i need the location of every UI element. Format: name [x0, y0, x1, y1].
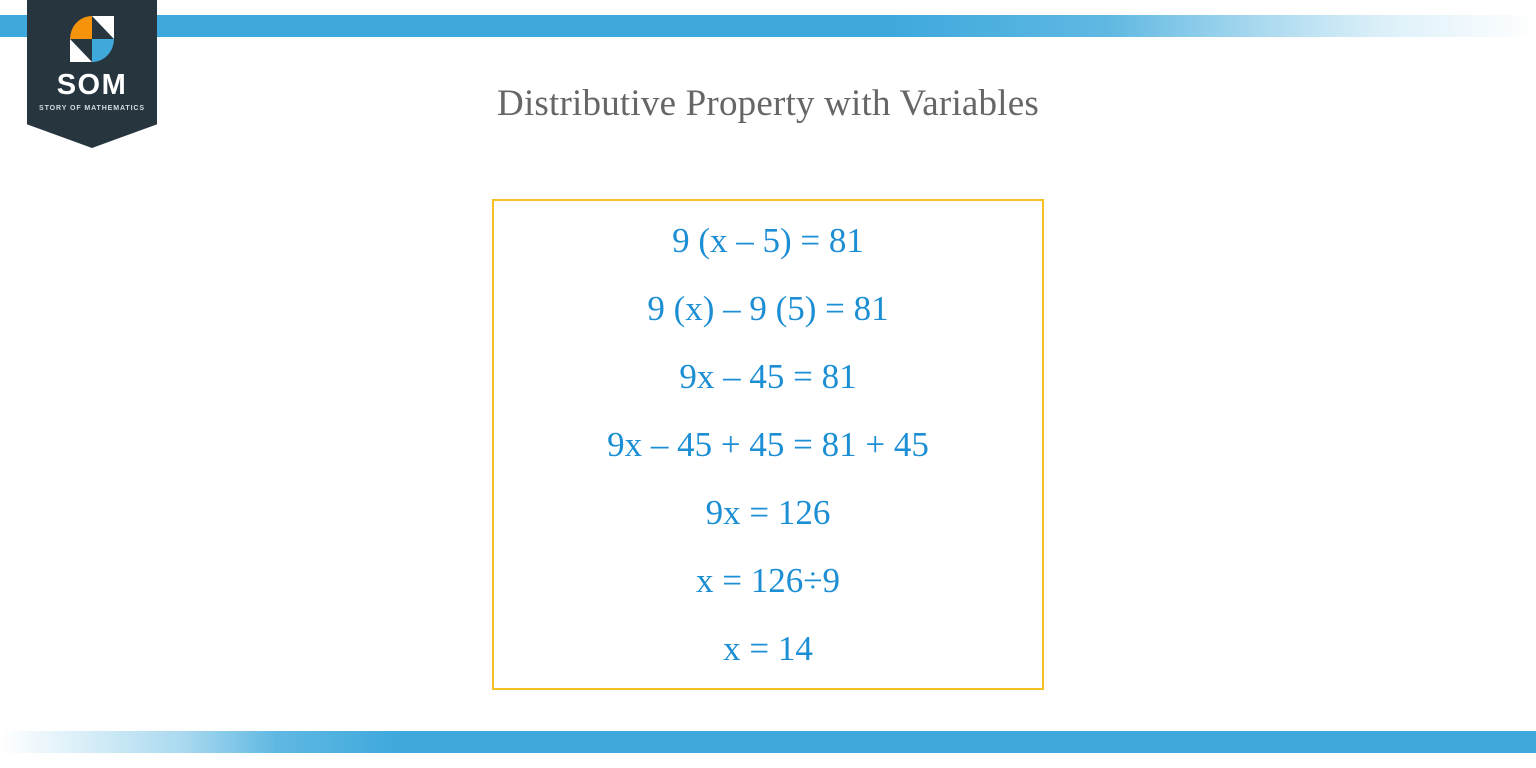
equation-line: 9x = 126: [706, 479, 831, 547]
equation-line: 9x – 45 = 81: [679, 343, 856, 411]
equation-line: 9 (x) – 9 (5) = 81: [647, 275, 888, 343]
logo-quarter-orange-icon: [70, 16, 92, 39]
top-accent-stripe: [0, 15, 1536, 37]
bottom-accent-stripe: [0, 731, 1536, 753]
equation-line: x = 14: [723, 615, 813, 683]
page-title: Distributive Property with Variables: [0, 82, 1536, 126]
equation-line: 9 (x – 5) = 81: [672, 207, 864, 275]
equation-box: 9 (x – 5) = 81 9 (x) – 9 (5) = 81 9x – 4…: [492, 199, 1044, 690]
logo-triangle-white-bottom-icon: [70, 39, 92, 62]
equation-line: x = 126÷9: [696, 547, 840, 615]
som-logo-mark-icon: [70, 16, 114, 62]
logo-quarter-blue-icon: [92, 39, 114, 62]
equation-line: 9x – 45 + 45 = 81 + 45: [607, 411, 929, 479]
logo-triangle-white-top-icon: [92, 16, 114, 39]
